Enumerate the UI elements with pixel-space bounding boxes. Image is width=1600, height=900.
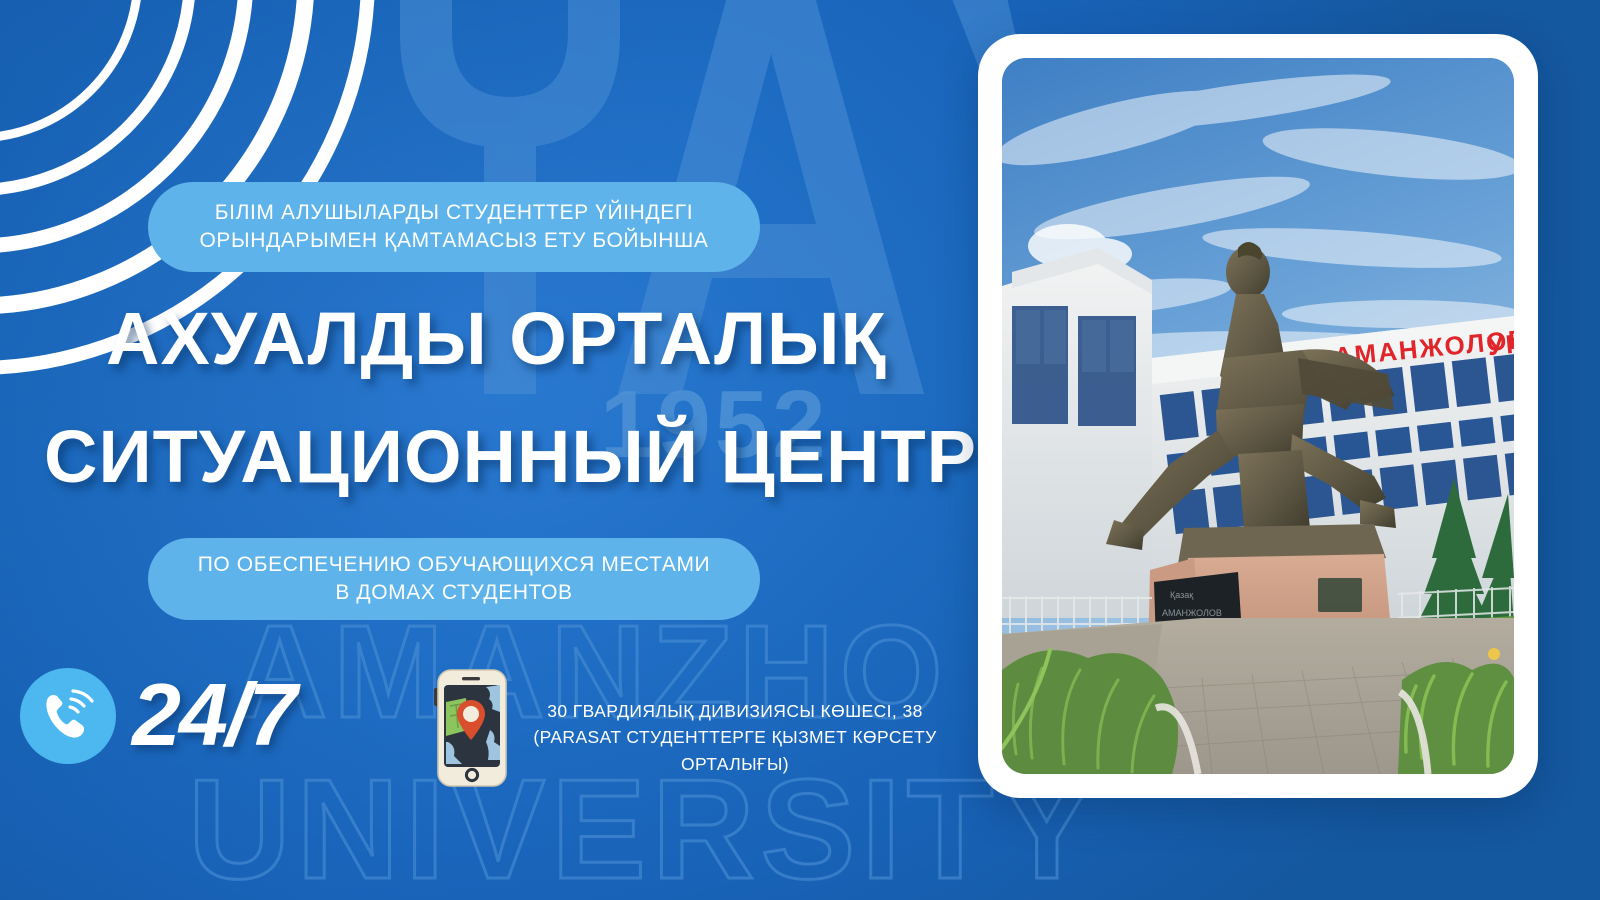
address-line-1: 30 ГВАРДИЯЛЫҚ ДИВИЗИЯСЫ КӨШЕСІ, 38 bbox=[520, 698, 950, 724]
photo-card: АМАНЖОЛОВ УН bbox=[978, 34, 1538, 798]
address-block: 30 ГВАРДИЯЛЫҚ ДИВИЗИЯСЫ КӨШЕСІ, 38 (PARA… bbox=[520, 698, 950, 777]
phone-waves-icon bbox=[37, 685, 99, 747]
subtitle-pill-kazakh: БІЛІМ АЛУШЫЛАРДЫ СТУДЕНТТЕР ҮЙІНДЕГІ ОРЫ… bbox=[148, 182, 760, 272]
building-sign-text-2: УН bbox=[1486, 328, 1514, 362]
svg-text:АМАНЖОЛОВ: АМАНЖОЛОВ bbox=[1162, 608, 1222, 618]
photo-frame: АМАНЖОЛОВ УН bbox=[1002, 58, 1514, 774]
address-line-3: ОРТАЛЫҒЫ) bbox=[520, 751, 950, 777]
pill-top-line1: БІЛІМ АЛУШЫЛАРДЫ СТУДЕНТТЕР ҮЙІНДЕГІ bbox=[200, 199, 709, 227]
poster-root: 1952 AMANZHO UNIVERSITY БІЛІМ АЛУШЫЛАРДЫ… bbox=[0, 0, 1600, 900]
svg-text:Қазақ: Қазақ bbox=[1170, 590, 1193, 600]
page-title-russian: СИТУАЦИОННЫЙ ЦЕНТР bbox=[44, 414, 977, 499]
phone-badge bbox=[20, 668, 116, 764]
smartphone-map-pin-icon bbox=[432, 668, 510, 788]
campus-photo: АМАНЖОЛОВ УН bbox=[1002, 58, 1514, 774]
pill-bottom-line2: В ДОМАХ СТУДЕНТОВ bbox=[198, 579, 711, 607]
pill-bottom-line1: ПО ОБЕСПЕЧЕНИЮ ОБУЧАЮЩИХСЯ МЕСТАМИ bbox=[198, 551, 711, 579]
page-title-kazakh: АХУАЛДЫ ОРТАЛЫҚ bbox=[106, 296, 887, 381]
subtitle-pill-russian: ПО ОБЕСПЕЧЕНИЮ ОБУЧАЮЩИХСЯ МЕСТАМИ В ДОМ… bbox=[148, 538, 760, 620]
hours-label: 24/7 bbox=[132, 664, 295, 766]
address-line-2: (PARASAT СТУДЕНТТЕРГЕ ҚЫЗМЕТ КӨРСЕТУ bbox=[520, 724, 950, 750]
pill-top-line2: ОРЫНДАРЫМЕН ҚАМТАМАСЫЗ ЕТУ БОЙЫНША bbox=[200, 227, 709, 255]
